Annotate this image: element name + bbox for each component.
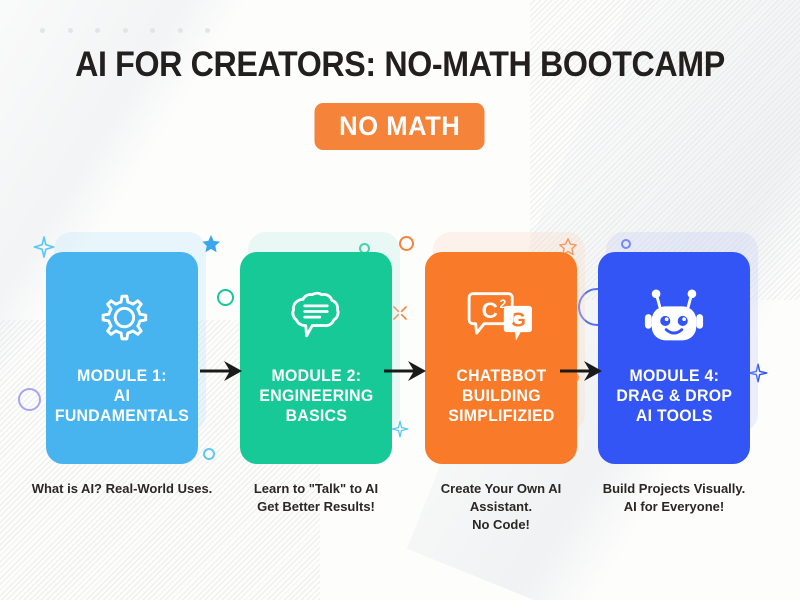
chatbot-bubbles-icon: G C 2 — [465, 286, 537, 352]
module-row: MODULE 1: AI FUNDAMENTALS What is AI? Re… — [0, 240, 800, 540]
flow-arrow-3 — [560, 358, 606, 384]
page-title: AI FOR CREATORS: NO-MATH BOOTCAMP — [32, 44, 768, 86]
card-body[interactable]: G C 2 CHATBBOT BUILDING SIMPLIFIZIED — [425, 252, 577, 464]
card-title: MODULE 1: AI FUNDAMENTALS — [49, 366, 195, 426]
speech-bubble-icon — [284, 286, 348, 352]
no-math-badge: NO MATH — [315, 103, 486, 150]
card-body[interactable]: MODULE 1: AI FUNDAMENTALS — [46, 252, 198, 464]
robot-icon — [639, 286, 709, 352]
card-caption: Build Projects Visually. AI for Everyone… — [576, 480, 772, 516]
top-dot-row — [40, 28, 210, 34]
badge-container: NO MATH — [0, 103, 800, 150]
card-caption: Create Your Own AI Assistant. No Code! — [403, 480, 599, 534]
gear-icon — [91, 286, 153, 352]
card-caption: Learn to "Talk" to AI Get Better Results… — [218, 480, 414, 516]
card-title: CHATBBOT BUILDING SIMPLIFIZIED — [442, 366, 560, 426]
card-body[interactable]: MODULE 2: ENGINEERING BASICS — [240, 252, 392, 464]
card-title: MODULE 2: ENGINEERING BASICS — [253, 366, 379, 426]
flow-arrow-1 — [200, 358, 246, 384]
svg-text:C: C — [482, 298, 498, 323]
infographic-canvas: AI FOR CREATORS: NO-MATH BOOTCAMP NO MAT… — [0, 0, 800, 600]
svg-text:2: 2 — [499, 297, 506, 311]
card-body[interactable]: MODULE 4: DRAG & DROP AI TOOLS — [598, 252, 750, 464]
flow-arrow-2 — [384, 358, 430, 384]
card-caption: What is AI? Real-World Uses. — [24, 480, 220, 498]
card-title: MODULE 4: DRAG & DROP AI TOOLS — [610, 366, 737, 426]
